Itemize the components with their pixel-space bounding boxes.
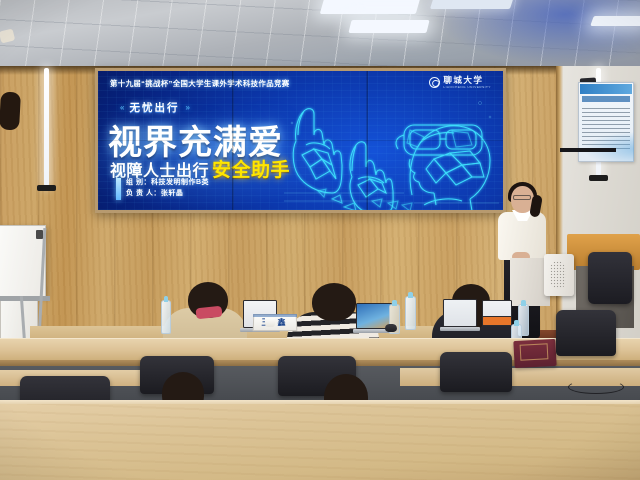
tube-light-base xyxy=(589,175,608,181)
poster-header-band xyxy=(580,84,632,94)
ceiling-panel-light xyxy=(320,0,421,14)
audience-ponytail xyxy=(0,92,21,131)
ceiling-panel-light xyxy=(348,20,429,33)
ceiling xyxy=(0,0,640,72)
chair xyxy=(588,252,632,304)
vr-wireframe-artwork xyxy=(284,73,499,210)
meta-accent-bar xyxy=(116,178,121,200)
poster-title-bar xyxy=(582,96,630,102)
water-bottle xyxy=(405,296,416,330)
tube-light-base xyxy=(37,185,56,191)
judge-head xyxy=(312,283,356,321)
speaker-grille xyxy=(550,261,566,289)
presentation-screen[interactable]: 第十九届“挑战杯”全国大学生课外学术科技作品竞赛 聊城大学 LIAOCHENG … xyxy=(98,71,503,210)
meta-category-row: 组 别：科技发明制作B类 xyxy=(126,177,209,188)
chair xyxy=(556,310,616,356)
notebook-border xyxy=(520,343,549,360)
tagline-text: 无忧出行 xyxy=(129,100,179,115)
water-bottle xyxy=(161,300,171,334)
computer-mouse[interactable] xyxy=(385,324,397,332)
chevron-right-icon: » xyxy=(185,103,188,112)
laptop-screen[interactable] xyxy=(443,299,477,327)
whiteboard-clip-icon xyxy=(36,230,43,239)
presenter-glasses-icon xyxy=(513,195,531,200)
front-desk-grain xyxy=(0,404,640,480)
power-cable xyxy=(568,380,624,394)
poster-swoosh-graphic xyxy=(578,130,634,162)
laptop-base[interactable] xyxy=(440,327,480,331)
slide-meta-block: 组 别：科技发明制作B类 负 责 人：张轩晶 xyxy=(126,177,209,199)
slide-tagline: « 无忧出行 » xyxy=(120,100,189,115)
front-desk xyxy=(0,404,640,480)
nameplate-top-strip xyxy=(253,314,297,317)
meta-leader-row: 负 责 人：张轩晶 xyxy=(126,188,209,199)
ceiling-panel-light xyxy=(430,0,514,9)
wall-dark-strip xyxy=(560,148,616,152)
paper-cup xyxy=(265,318,275,327)
competition-header-text: 第十九届“挑战杯”全国大学生课外学术科技作品竞赛 xyxy=(110,78,290,89)
presentation-room-photo: 第十九届“挑战杯”全国大学生课外学术科技作品竞赛 聊城大学 LIAOCHENG … xyxy=(0,0,640,480)
video-wall-frame: 第十九届“挑战杯”全国大学生课外学术科技作品竞赛 聊城大学 LIAOCHENG … xyxy=(95,68,506,213)
fluorescent-tube-light xyxy=(44,68,49,186)
subtitle-yellow-part: 安全助手 xyxy=(212,155,290,182)
chair xyxy=(440,352,512,392)
laptop-screen-accent xyxy=(482,316,512,326)
ceiling-panel-light xyxy=(590,16,640,26)
chevron-left-icon: « xyxy=(120,103,123,112)
